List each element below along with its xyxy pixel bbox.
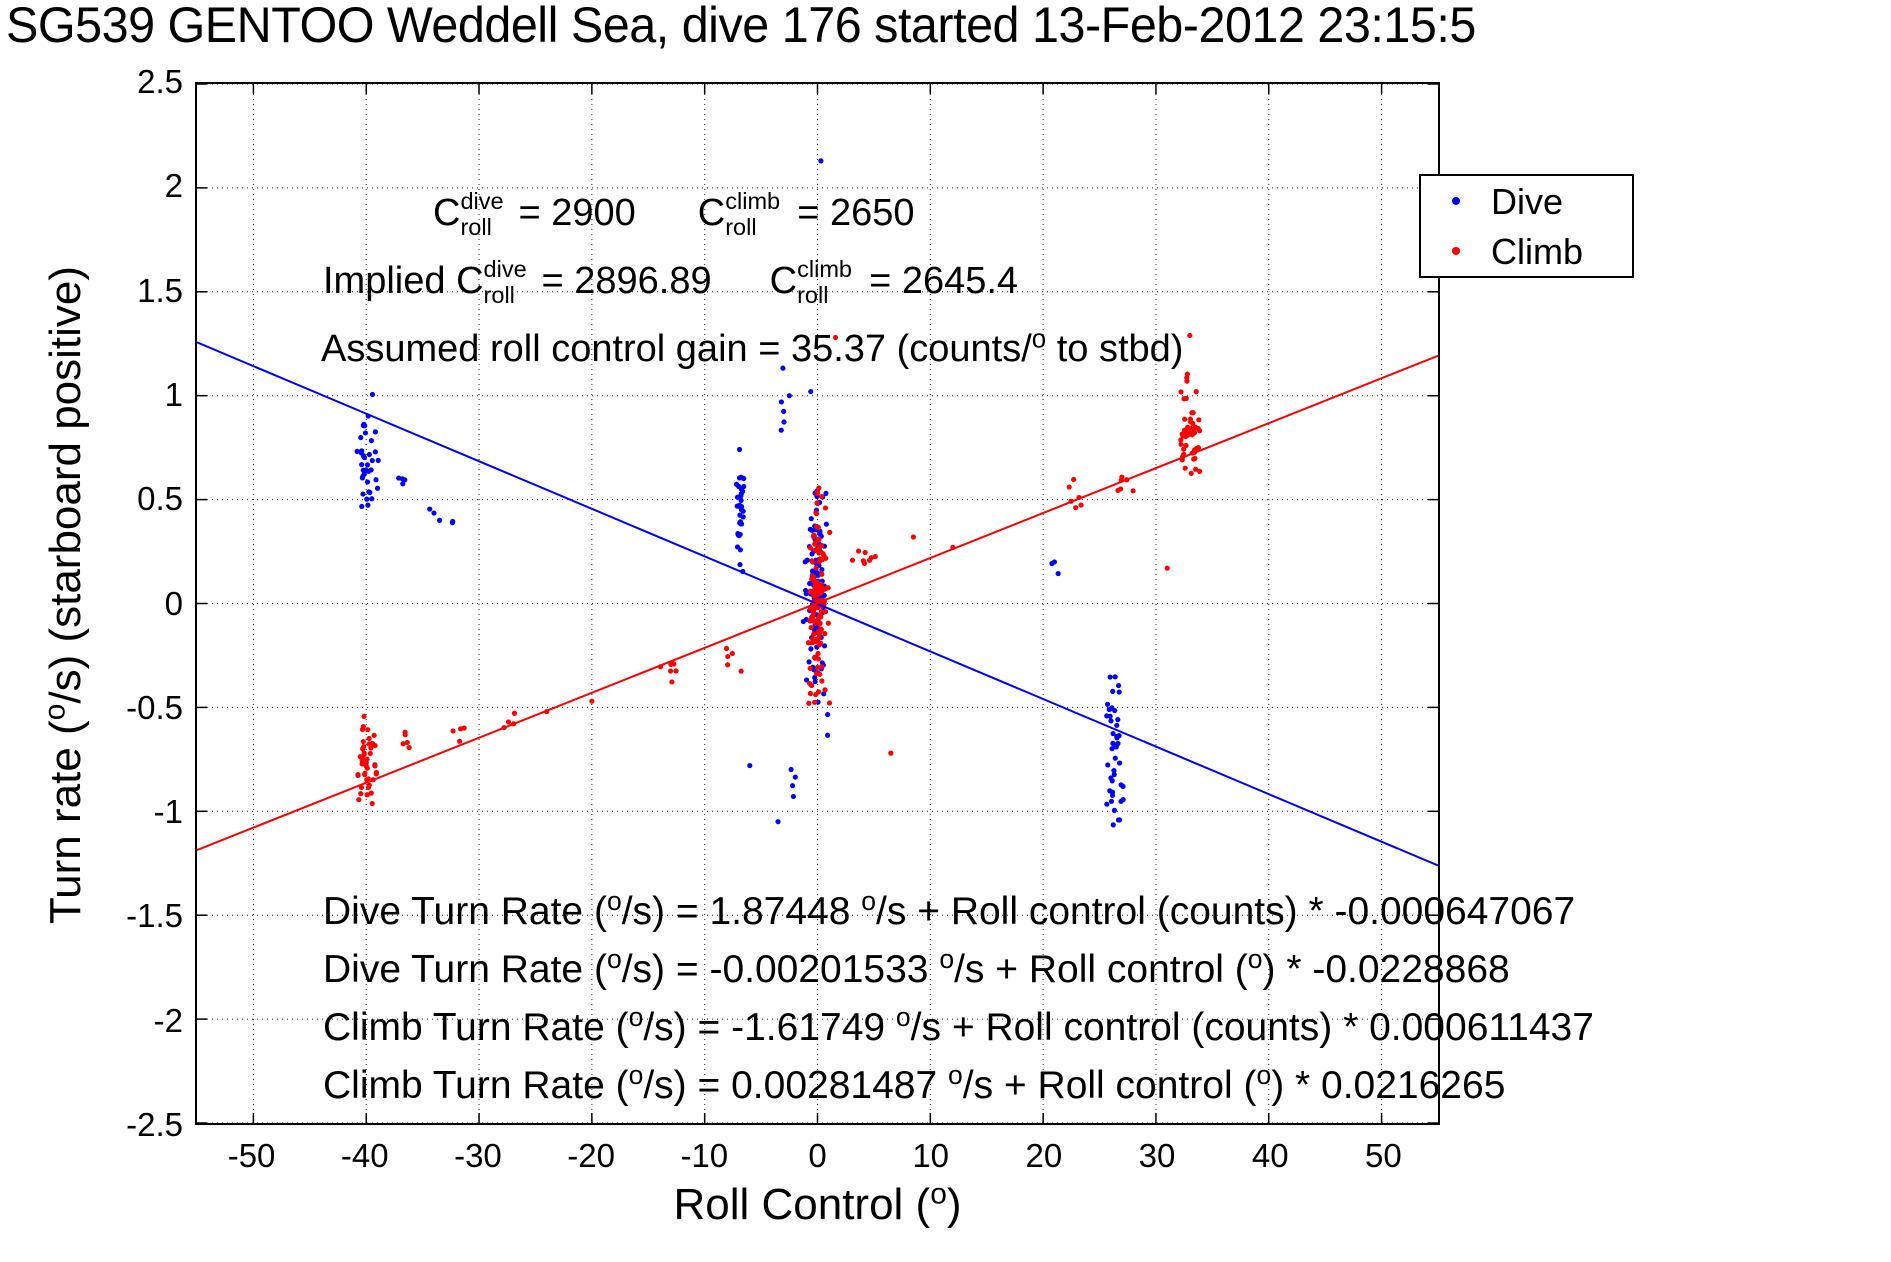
eq-tail: /s + Roll control (	[963, 1064, 1257, 1107]
scatter-point	[450, 520, 455, 525]
scatter-point	[817, 615, 822, 620]
eq-mid: /s) = -0.00201533	[622, 948, 940, 991]
scatter-point	[807, 581, 812, 586]
c-climb-value: = 2650	[797, 192, 914, 234]
equation-dive-degrees: Dive Turn Rate (o/s) = -0.00201533 o/s +…	[323, 950, 1510, 989]
scatter-point	[361, 714, 366, 719]
scatter-point	[403, 730, 408, 735]
scatter-point	[790, 783, 795, 788]
scatter-point	[1178, 442, 1183, 447]
scatter-point	[725, 662, 730, 667]
scatter-point	[1071, 477, 1076, 482]
scatter-point	[739, 521, 744, 526]
scatter-point	[850, 558, 855, 563]
scatter-point	[1117, 760, 1122, 765]
scatter-point	[816, 525, 821, 530]
c-climb-symbol: Cclimbroll	[698, 194, 725, 232]
scatter-point	[811, 534, 816, 539]
scatter-point	[1110, 741, 1115, 746]
scatter-point	[863, 550, 868, 555]
scatter-point	[809, 558, 814, 563]
y-tick-label: 0	[63, 587, 183, 620]
legend-label-dive: Dive	[1491, 184, 1563, 220]
scatter-point	[811, 593, 816, 598]
scatter-point	[1196, 417, 1201, 422]
scatter-point	[737, 447, 742, 452]
x-tick-label: 10	[871, 1139, 991, 1172]
gain-text-head: Assumed roll control gain = 35.37 (count…	[321, 328, 1032, 370]
scatter-point	[781, 409, 786, 414]
legend-label-climb: Climb	[1491, 234, 1583, 270]
scatter-point	[813, 510, 818, 515]
implied-c-dive-subscript: roll	[484, 276, 515, 314]
y-tick-label: 2.5	[63, 65, 183, 98]
scatter-point	[730, 651, 735, 656]
scatter-point	[806, 640, 811, 645]
scatter-point	[791, 794, 796, 799]
scatter-point	[457, 739, 462, 744]
scatter-point	[1109, 799, 1114, 804]
scatter-point	[1115, 741, 1120, 746]
x-tick-label: -20	[531, 1139, 651, 1172]
scatter-point	[1191, 410, 1196, 415]
scatter-point	[363, 430, 368, 435]
scatter-point	[873, 554, 878, 559]
scatter-point	[806, 701, 811, 706]
scatter-point	[1105, 762, 1110, 767]
scatter-point	[775, 819, 780, 824]
scatter-point	[808, 389, 813, 394]
scatter-point	[1108, 674, 1113, 679]
scatter-point	[1110, 790, 1115, 795]
degree-symbol-icon: o	[629, 1002, 644, 1032]
scatter-point	[1119, 782, 1124, 787]
scatter-point	[1181, 447, 1186, 452]
scatter-point	[1178, 389, 1183, 394]
scatter-point	[819, 494, 824, 499]
scatter-point	[862, 561, 867, 566]
x-tick-label: -10	[644, 1139, 764, 1172]
scatter-point	[361, 423, 366, 428]
scatter-point	[819, 609, 824, 614]
scatter-point	[1188, 426, 1193, 431]
plot-area: • Dive • Climb Cdiveroll= 2900Cclimbroll…	[195, 82, 1440, 1125]
scatter-point	[1116, 683, 1121, 688]
eq-tail: /s + Roll control (counts) * -0.00064706…	[876, 890, 1575, 933]
scatter-point	[373, 429, 378, 434]
equation-climb-degrees: Climb Turn Rate (o/s) = 0.00281487 o/s +…	[323, 1066, 1505, 1105]
scatter-point	[355, 773, 360, 778]
scatter-point	[669, 679, 674, 684]
scatter-point	[1117, 689, 1122, 694]
scatter-point	[1105, 702, 1110, 707]
scatter-point	[822, 631, 827, 636]
x-tick-label: 30	[1097, 1139, 1217, 1172]
scatter-point	[1182, 417, 1187, 422]
scatter-point	[787, 393, 792, 398]
scatter-point	[1108, 718, 1113, 723]
x-tick-label: 20	[984, 1139, 1104, 1172]
legend-entry-climb[interactable]: • Climb	[1421, 226, 1632, 278]
scatter-point	[819, 572, 824, 577]
scatter-point	[815, 665, 820, 670]
annotation-implied-line: Implied Cdiveroll= 2896.89Cclimbroll= 26…	[323, 262, 1018, 300]
scatter-point	[814, 565, 819, 570]
scatter-point	[362, 472, 367, 477]
figure-canvas: SG539 GENTOO Weddell Sea, dive 176 start…	[0, 0, 1891, 1262]
scatter-point	[808, 691, 813, 696]
degree-symbol-icon: o	[629, 1060, 644, 1090]
scatter-point	[815, 491, 820, 496]
scatter-point	[358, 791, 363, 796]
degree-symbol-icon: o	[1248, 944, 1263, 974]
scatter-point	[808, 666, 813, 671]
scatter-point	[370, 801, 375, 806]
y-tick-label: -2.5	[63, 1108, 183, 1141]
c-dive-value: = 2900	[518, 192, 635, 234]
eq-tail2: ) * -0.0228868	[1263, 948, 1510, 991]
scatter-point	[365, 479, 370, 484]
scatter-point	[373, 449, 378, 454]
scatter-point	[1188, 419, 1193, 424]
scatter-point	[819, 678, 824, 683]
x-axis-label-tail: )	[947, 1180, 962, 1229]
eq-mid: /s) = 1.87448	[622, 890, 862, 933]
scatter-point	[360, 746, 365, 751]
scatter-point	[1112, 808, 1117, 813]
y-tick-label: 2	[63, 169, 183, 202]
scatter-point	[1114, 723, 1119, 728]
scatter-point	[815, 629, 820, 634]
scatter-point	[360, 491, 365, 496]
scatter-point	[819, 664, 824, 669]
scatter-point	[741, 484, 746, 489]
degree-symbol-icon: o	[896, 1002, 911, 1032]
scatter-point	[360, 758, 365, 763]
scatter-point	[1067, 484, 1072, 489]
scatter-point	[817, 672, 822, 677]
scatter-point	[739, 507, 744, 512]
scatter-point	[814, 500, 819, 505]
scatter-point	[822, 687, 827, 692]
scatter-point	[372, 762, 377, 767]
scatter-point	[1119, 799, 1124, 804]
scatter-point	[724, 646, 729, 651]
x-tick-label: 50	[1323, 1139, 1443, 1172]
scatter-point	[824, 522, 829, 527]
scatter-point	[823, 505, 828, 510]
c-climb-subscript: roll	[725, 208, 756, 246]
chart-title: SG539 GENTOO Weddell Sea, dive 176 start…	[6, 0, 1476, 54]
scatter-point	[827, 700, 832, 705]
x-axis-label-head: Roll Control (	[673, 1180, 930, 1229]
scatter-point	[356, 797, 361, 802]
degree-symbol-icon: o	[607, 944, 622, 974]
scatter-point	[779, 428, 784, 433]
scatter-point	[817, 556, 822, 561]
scatter-point	[737, 562, 742, 567]
scatter-point	[808, 646, 813, 651]
scatter-point	[367, 452, 372, 457]
scatter-point	[427, 507, 432, 512]
degree-symbol-icon: o	[607, 886, 622, 916]
scatter-point	[373, 477, 378, 482]
scatter-point	[506, 719, 511, 724]
scatter-point	[369, 438, 374, 443]
scatter-point	[1197, 469, 1202, 474]
x-tick-label: 40	[1210, 1139, 1330, 1172]
legend-marker-climb: •	[1421, 237, 1491, 267]
scatter-point	[1115, 717, 1120, 722]
scatter-point	[741, 514, 746, 519]
scatter-point	[808, 545, 813, 550]
scatter-point	[812, 541, 817, 546]
scatter-point	[808, 625, 813, 630]
scatter-point	[888, 751, 893, 756]
y-tick-label: -1	[63, 795, 183, 828]
scatter-point	[820, 588, 825, 593]
eq-head: Dive Turn Rate (	[323, 948, 607, 991]
eq-tail2: ) * 0.0216265	[1271, 1064, 1505, 1107]
scatter-point	[362, 752, 367, 757]
scatter-point	[827, 530, 832, 535]
eq-head: Dive Turn Rate (	[323, 890, 607, 933]
scatter-point	[812, 700, 817, 705]
scatter-point	[365, 727, 370, 732]
scatter-point	[1056, 571, 1061, 576]
scatter-point	[816, 656, 821, 661]
scatter-point	[355, 449, 360, 454]
scatter-point	[803, 559, 808, 564]
scatter-point	[668, 668, 673, 673]
scatter-point	[725, 654, 730, 659]
legend-entry-dive[interactable]: • Dive	[1421, 176, 1632, 228]
regression-lines	[197, 342, 1438, 865]
scatter-point	[1113, 756, 1118, 761]
scatter-point	[1189, 471, 1194, 476]
scatter-point	[1114, 735, 1119, 740]
scatter-point	[738, 493, 743, 498]
scatter-point	[1116, 817, 1121, 822]
scatter-point	[361, 724, 366, 729]
degree-symbol-icon: o	[861, 886, 876, 916]
x-tick-label: -40	[305, 1139, 425, 1172]
eq-mid: /s) = -1.61749	[643, 1006, 896, 1049]
scatter-point	[361, 739, 366, 744]
eq-head: Climb Turn Rate (	[323, 1006, 629, 1049]
y-tick-label: 0.5	[63, 482, 183, 515]
scatter-point	[738, 532, 743, 537]
scatter-point	[1078, 502, 1083, 507]
scatter-point	[370, 458, 375, 463]
scatter-point	[818, 158, 823, 163]
scatter-point	[365, 792, 370, 797]
scatter-point	[361, 453, 366, 458]
scatter-point	[458, 726, 463, 731]
equation-dive-counts: Dive Turn Rate (o/s) = 1.87448 o/s + Rol…	[323, 892, 1575, 931]
scatter-point	[1183, 466, 1188, 471]
eq-head: Climb Turn Rate (	[323, 1064, 629, 1107]
scatter-point	[806, 659, 811, 664]
eq-tail: /s + Roll control (	[954, 948, 1248, 991]
scatter-point	[809, 528, 814, 533]
scatter-point	[1165, 566, 1170, 571]
degree-symbol-icon: o	[930, 1177, 947, 1210]
scatter-point	[814, 580, 819, 585]
scatter-point	[856, 548, 861, 553]
scatter-point	[867, 558, 872, 563]
scatter-point	[1073, 505, 1078, 510]
scatter-point	[1110, 689, 1115, 694]
scatter-point	[365, 462, 370, 467]
scatter-point	[369, 496, 374, 501]
scatter-point	[813, 639, 818, 644]
scatter-point	[816, 485, 821, 490]
scatter-point	[364, 497, 369, 502]
scatter-point	[1184, 375, 1189, 380]
scatter-point	[788, 767, 793, 772]
scatter-point	[374, 771, 379, 776]
scatter-point	[376, 458, 381, 463]
legend[interactable]: • Dive • Climb	[1419, 174, 1634, 278]
x-tick-label: 0	[758, 1139, 878, 1172]
scatter-point	[1194, 389, 1199, 394]
scatter-point	[1118, 486, 1123, 491]
x-axis-label: Roll Control (o)	[195, 1180, 1440, 1230]
scatter-point	[813, 692, 818, 697]
scatter-point	[367, 736, 372, 741]
scatter-point	[793, 774, 798, 779]
scatter-point	[1052, 559, 1057, 564]
scatter-point	[809, 516, 814, 521]
annotation-gain-line: Assumed roll control gain = 35.37 (count…	[321, 330, 1183, 368]
scatter-point	[779, 399, 784, 404]
scatter-point	[1187, 333, 1192, 338]
scatter-point	[367, 490, 372, 495]
implied-c-dive-value: = 2896.89	[542, 260, 712, 302]
scatter-point	[1109, 746, 1114, 751]
scatter-point	[512, 711, 517, 716]
scatter-point	[1119, 475, 1124, 480]
y-tick-label: -2	[63, 1004, 183, 1037]
y-tick-label: -0.5	[63, 691, 183, 724]
gain-text-tail: to stbd)	[1046, 328, 1183, 370]
degree-symbol-icon: o	[1032, 325, 1046, 353]
implied-c-climb-value: = 2645.4	[869, 260, 1018, 302]
implied-c-climb-subscript: roll	[797, 276, 828, 314]
scatter-point	[911, 534, 916, 539]
scatter-point	[740, 476, 745, 481]
scatter-point	[364, 763, 369, 768]
equation-climb-counts: Climb Turn Rate (o/s) = -1.61749 o/s + R…	[323, 1008, 1594, 1047]
scatter-point	[781, 419, 786, 424]
scatter-point	[431, 510, 436, 515]
c-dive-symbol: Cdiveroll	[433, 194, 460, 232]
scatter-point	[807, 618, 812, 623]
scatter-point	[739, 669, 744, 674]
scatter-point	[373, 743, 378, 748]
scatter-point	[1108, 775, 1113, 780]
scatter-point	[816, 537, 821, 542]
scatter-point	[405, 740, 410, 745]
eq-tail: /s + Roll control (counts) * 0.000611437	[911, 1006, 1594, 1049]
scatter-point	[809, 683, 814, 688]
scatter-points	[355, 158, 1203, 827]
scatter-point	[803, 588, 808, 593]
scatter-point	[358, 435, 363, 440]
y-tick-label: -1.5	[63, 899, 183, 932]
scatter-point	[738, 547, 743, 552]
scatter-point	[736, 484, 741, 489]
scatter-point	[400, 476, 405, 481]
scatter-point	[826, 621, 831, 626]
annotation-coefficients-line: Cdiveroll= 2900Cclimbroll= 2650	[433, 194, 915, 232]
scatter-point	[359, 462, 364, 467]
scatter-point	[811, 631, 816, 636]
scatter-point	[372, 733, 377, 738]
scatter-point	[817, 531, 822, 536]
scatter-point	[1131, 488, 1136, 493]
scatter-point	[1111, 822, 1116, 827]
scatter-point	[825, 712, 830, 717]
scatter-point	[589, 699, 594, 704]
scatter-point	[364, 757, 369, 762]
c-dive-subscript: roll	[460, 208, 491, 246]
scatter-point	[359, 448, 364, 453]
scatter-point	[1109, 705, 1114, 710]
scatter-point	[825, 733, 830, 738]
y-tick-label: 1.5	[63, 274, 183, 307]
legend-marker-dive: •	[1421, 187, 1491, 217]
scatter-point	[673, 668, 678, 673]
implied-c-dive-symbol: Cdiveroll	[456, 262, 483, 300]
scatter-point	[1181, 396, 1186, 401]
scatter-point	[1104, 713, 1109, 718]
scatter-point	[375, 486, 380, 491]
x-tick-label: -50	[192, 1139, 312, 1172]
scatter-point	[370, 392, 375, 397]
implied-c-climb-symbol: Cclimbroll	[770, 262, 797, 300]
degree-symbol-icon: o	[939, 944, 954, 974]
scatter-point	[368, 751, 373, 756]
scatter-point	[808, 589, 813, 594]
degree-symbol-icon: o	[1256, 1060, 1271, 1090]
scatter-point	[747, 763, 752, 768]
y-tick-label: 1	[63, 378, 183, 411]
scatter-point	[437, 518, 442, 523]
scatter-point	[407, 745, 412, 750]
scatter-point	[359, 504, 364, 509]
x-tick-label: -30	[418, 1139, 538, 1172]
scatter-point	[815, 547, 820, 552]
scatter-point	[1197, 428, 1202, 433]
scatter-point	[450, 728, 455, 733]
implied-prefix: Implied	[323, 260, 446, 302]
scatter-point	[366, 785, 371, 790]
scatter-point	[815, 651, 820, 656]
scatter-point	[362, 772, 367, 777]
degree-symbol-icon: o	[948, 1060, 963, 1090]
scatter-point	[740, 489, 745, 494]
scatter-point	[365, 503, 370, 508]
scatter-point	[1104, 802, 1109, 807]
eq-mid: /s) = 0.00281487	[643, 1064, 948, 1107]
scatter-point	[1113, 674, 1118, 679]
scatter-point	[1191, 457, 1196, 462]
